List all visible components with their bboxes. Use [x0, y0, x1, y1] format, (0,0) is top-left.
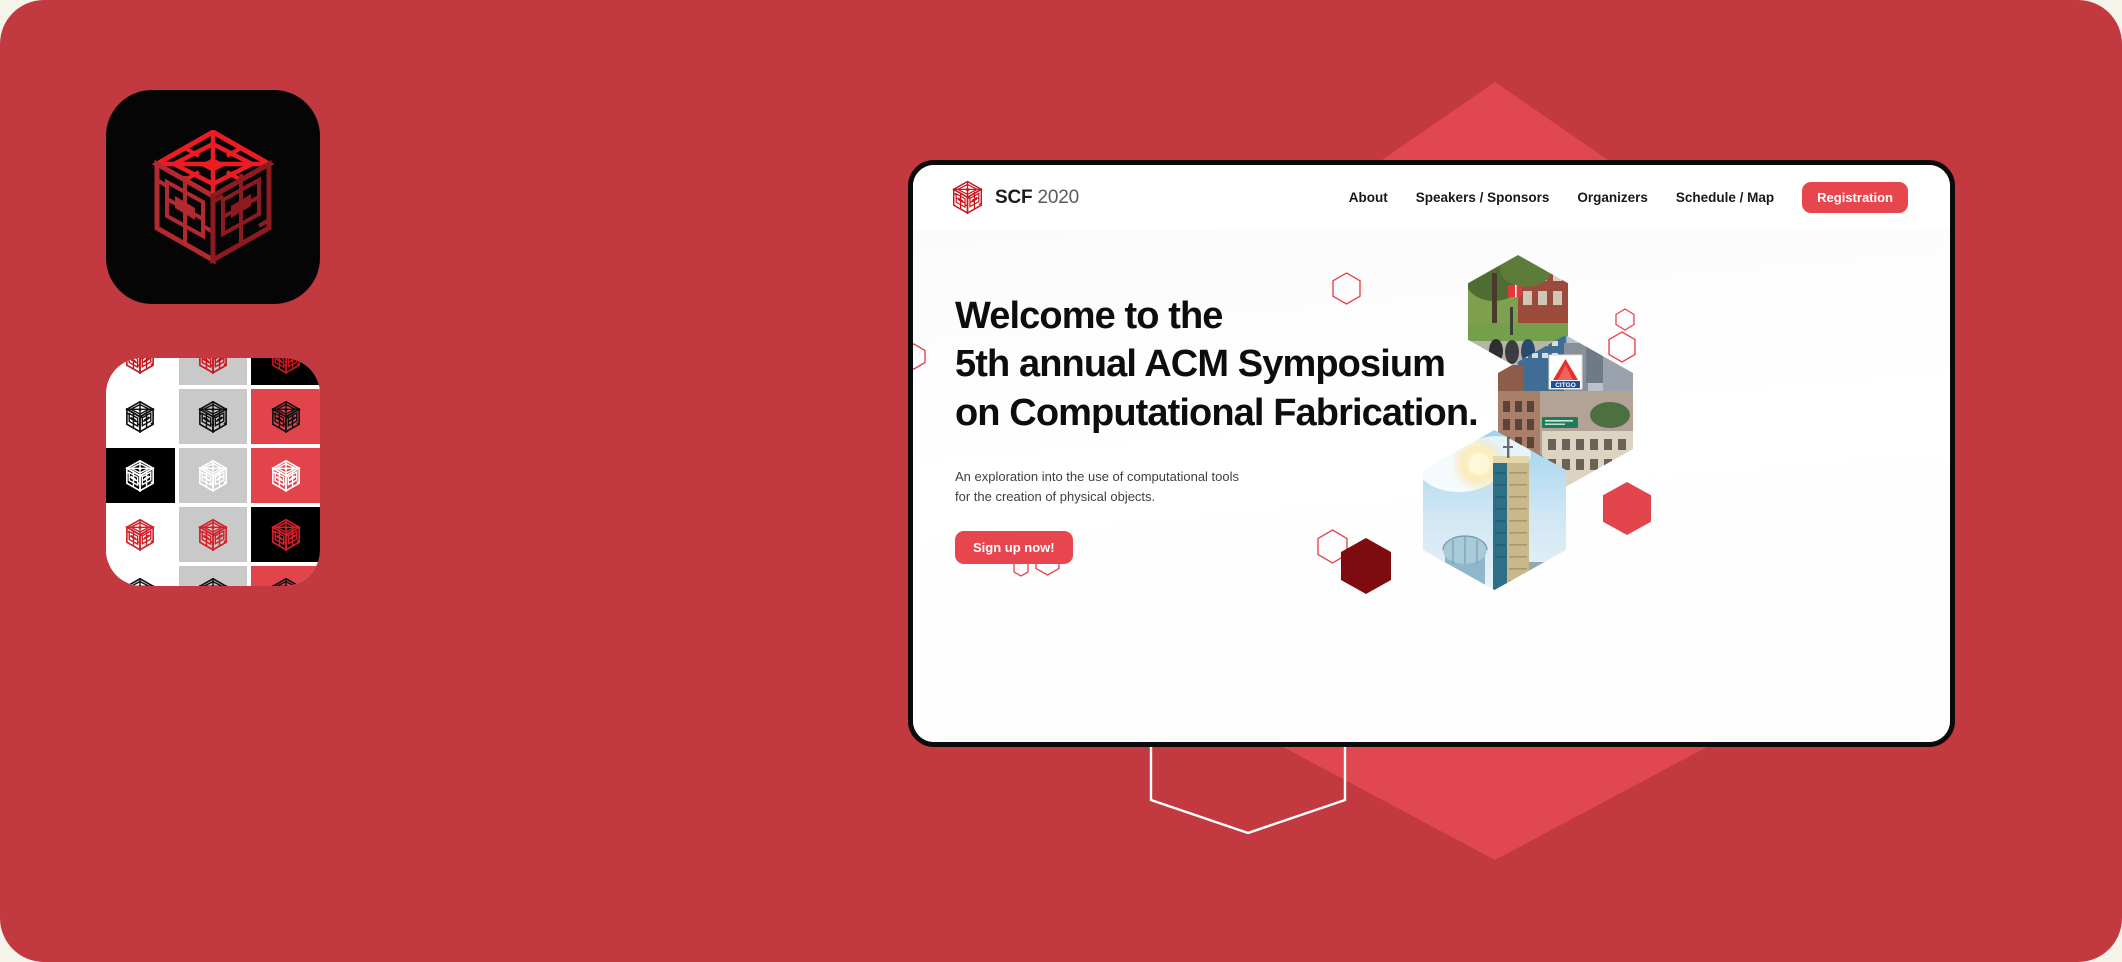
hexagon-outline-right-small: [1615, 308, 1635, 331]
logo-variation-cell: [179, 566, 248, 586]
site-brand[interactable]: SCF 2020: [951, 181, 1079, 214]
site-brand-text: SCF 2020: [995, 187, 1079, 209]
nav-link-schedule-map[interactable]: Schedule / Map: [1676, 190, 1774, 205]
hero-subtitle: An exploration into the use of computati…: [955, 467, 1245, 507]
app-icon-tile[interactable]: [106, 90, 320, 304]
logo-variation-cell: [179, 389, 248, 444]
hero-signup-button[interactable]: Sign up now!: [955, 531, 1073, 564]
logo-variation-cell: [179, 507, 248, 562]
logo-variation-cell: [251, 389, 320, 444]
navigation-links: About Speakers / Sponsors Organizers Sch…: [1349, 182, 1908, 213]
site-brand-year: 2020: [1038, 187, 1079, 208]
nav-link-speakers-sponsors[interactable]: Speakers / Sponsors: [1416, 190, 1550, 205]
logo-variation-cell: [106, 389, 175, 444]
hero-title: Welcome to the 5th annual ACM Symposium …: [955, 292, 1475, 437]
logo-variations-grid: [106, 358, 320, 586]
hexagon-outline-edge: [913, 343, 926, 370]
scf-cube-logo-icon: [149, 130, 277, 264]
logo-variation-cell: [251, 507, 320, 562]
logo-variation-cell: [251, 358, 320, 385]
nav-registration-button[interactable]: Registration: [1802, 182, 1908, 213]
nav-link-about[interactable]: About: [1349, 190, 1388, 205]
browser-window: SCF 2020 About Speakers / Sponsors Organ…: [908, 160, 1955, 747]
site-navigation-bar: SCF 2020 About Speakers / Sponsors Organ…: [913, 165, 1950, 230]
hero-content: Welcome to the 5th annual ACM Symposium …: [955, 292, 1475, 564]
hero-title-line-2: 5th annual ACM Symposium: [955, 340, 1475, 388]
svg-text:CITGO: CITGO: [1555, 382, 1576, 389]
site-brand-name: SCF: [995, 187, 1032, 208]
logo-variation-cell: [251, 448, 320, 503]
logo-variation-cell: [251, 566, 320, 586]
logo-variation-cell: [106, 566, 175, 586]
logo-variation-cell: [179, 358, 248, 385]
nav-link-organizers[interactable]: Organizers: [1577, 190, 1648, 205]
hexagon-outline-right-large: [1608, 331, 1636, 363]
logo-variations-card[interactable]: [106, 358, 320, 586]
brand-showcase-canvas: SCF 2020 About Speakers / Sponsors Organ…: [0, 0, 2122, 962]
logo-variation-cell: [106, 507, 175, 562]
hero-title-line-3: on Computational Fabrication.: [955, 389, 1475, 437]
scf-cube-logo-icon: [951, 181, 984, 214]
logo-variation-cell: [106, 448, 175, 503]
hero-section: CITGO: [913, 230, 1950, 745]
logo-variation-cell: [106, 358, 175, 385]
logo-variation-cell: [179, 448, 248, 503]
hexagon-solid-red: [1603, 482, 1651, 535]
hero-title-line-1: Welcome to the: [955, 292, 1475, 340]
